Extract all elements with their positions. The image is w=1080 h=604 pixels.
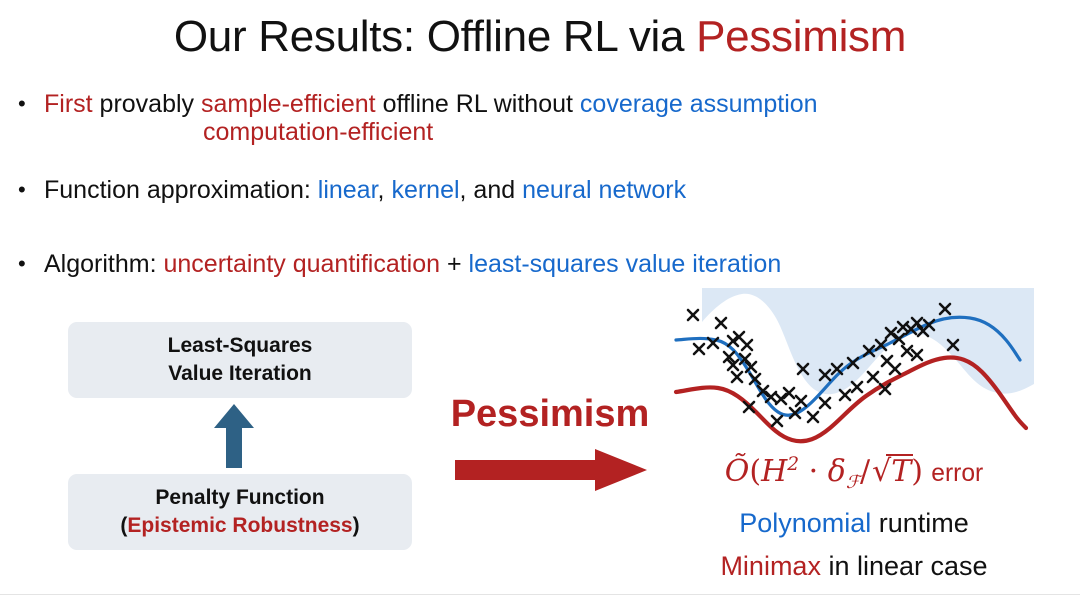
bullet-1-body: First provably sample-efficient offline … bbox=[44, 88, 1068, 148]
bullet-3-seg-3: least-squares value iteration bbox=[469, 250, 782, 278]
bullet-2-seg-5: neural network bbox=[522, 176, 686, 204]
up-arrow-icon bbox=[212, 404, 256, 468]
bullet-3-seg-2: + bbox=[440, 250, 469, 278]
bullet-1-seg-0: First bbox=[44, 90, 100, 118]
caption-error-bound: Õ(H2 · δℱ/√T) error bbox=[664, 452, 1044, 494]
caption-minimax-highlight: Minimax bbox=[720, 551, 821, 581]
math-h-exponent: 2 bbox=[787, 454, 799, 475]
bullet-2-body: Function approximation: linear, kernel, … bbox=[44, 174, 1068, 206]
math-paren-open: ( bbox=[749, 454, 761, 489]
math-delta: δ bbox=[828, 454, 846, 489]
box-lsvi-line-2: Value Iteration bbox=[168, 360, 312, 388]
math-cdot: · bbox=[809, 454, 819, 489]
slide-canvas: Our Results: Offline RL via Pessimism • … bbox=[0, 0, 1080, 604]
title-text-highlight: Pessimism bbox=[696, 12, 906, 61]
diagram-box-penalty-function: Penalty Function (Epistemic Robustness) bbox=[68, 474, 412, 550]
bullet-3-seg-0: Algorithm: bbox=[44, 250, 163, 278]
caption-minimax: Minimax in linear case bbox=[664, 548, 1044, 584]
bullet-2-seg-3: kernel bbox=[391, 176, 459, 204]
pessimism-label: Pessimism bbox=[430, 391, 670, 437]
title-text-main: Our Results: Offline RL via bbox=[174, 12, 696, 61]
bullet-item-2: • Function approximation: linear, kernel… bbox=[18, 174, 1068, 206]
math-t: T bbox=[891, 454, 911, 489]
math-expression: Õ(H2 · δℱ/√T) bbox=[725, 454, 923, 489]
bullet-2-seg-4: , and bbox=[460, 176, 523, 204]
bullet-2-seg-0: Function approximation: bbox=[44, 176, 318, 204]
math-radical-sign: √ bbox=[872, 454, 891, 489]
paren-close: ) bbox=[353, 514, 360, 537]
bullet-3-body: Algorithm: uncertainty quantification + … bbox=[44, 248, 1068, 280]
box-penalty-line-2: (Epistemic Robustness) bbox=[120, 512, 359, 540]
math-o-tilde: Õ bbox=[725, 454, 750, 489]
bullet-marker-icon: • bbox=[18, 88, 44, 120]
slide-bottom-divider bbox=[0, 594, 1080, 595]
bullet-1-seg-4: coverage assumption bbox=[580, 90, 818, 118]
bullet-item-3: • Algorithm: uncertainty quantification … bbox=[18, 248, 1068, 280]
box-penalty-highlight: Epistemic Robustness bbox=[127, 514, 352, 537]
page-title: Our Results: Offline RL via Pessimism bbox=[0, 8, 1080, 66]
bullet-2-seg-2: , bbox=[378, 176, 392, 204]
box-penalty-line-1: Penalty Function bbox=[155, 484, 324, 512]
caption-runtime: Polynomial runtime bbox=[664, 505, 1044, 541]
bullet-item-1: • First provably sample-efficient offlin… bbox=[18, 88, 1068, 148]
math-sqrt: √T bbox=[870, 452, 911, 492]
bullet-marker-icon: • bbox=[18, 174, 44, 206]
caption-minimax-rest: in linear case bbox=[821, 551, 988, 581]
math-delta-subscript: ℱ bbox=[846, 472, 860, 493]
box-lsvi-line-1: Least-Squares bbox=[168, 332, 313, 360]
caption-runtime-highlight: Polynomial bbox=[739, 508, 871, 538]
uncertainty-band-plot bbox=[672, 288, 1034, 454]
bullet-1-seg-1: provably bbox=[100, 90, 201, 118]
math-h: H bbox=[761, 454, 787, 489]
bullet-2-seg-1: linear bbox=[318, 176, 378, 204]
math-paren-close: ) bbox=[911, 454, 923, 489]
bullet-1-subline: computation-efficient bbox=[44, 116, 1068, 148]
bullet-3-seg-1: uncertainty quantification bbox=[163, 250, 440, 278]
math-slash: / bbox=[860, 454, 870, 489]
right-arrow-icon bbox=[455, 449, 647, 491]
diagram-box-least-squares-value-iteration: Least-Squares Value Iteration bbox=[68, 322, 412, 398]
math-radical-bar bbox=[886, 454, 913, 456]
caption-runtime-rest: runtime bbox=[871, 508, 969, 538]
bullet-marker-icon: • bbox=[18, 248, 44, 280]
bullet-1-seg-2: sample-efficient bbox=[201, 90, 376, 118]
caption-error-word: error bbox=[931, 460, 983, 487]
bullet-1-seg-3: offline RL without bbox=[376, 90, 580, 118]
